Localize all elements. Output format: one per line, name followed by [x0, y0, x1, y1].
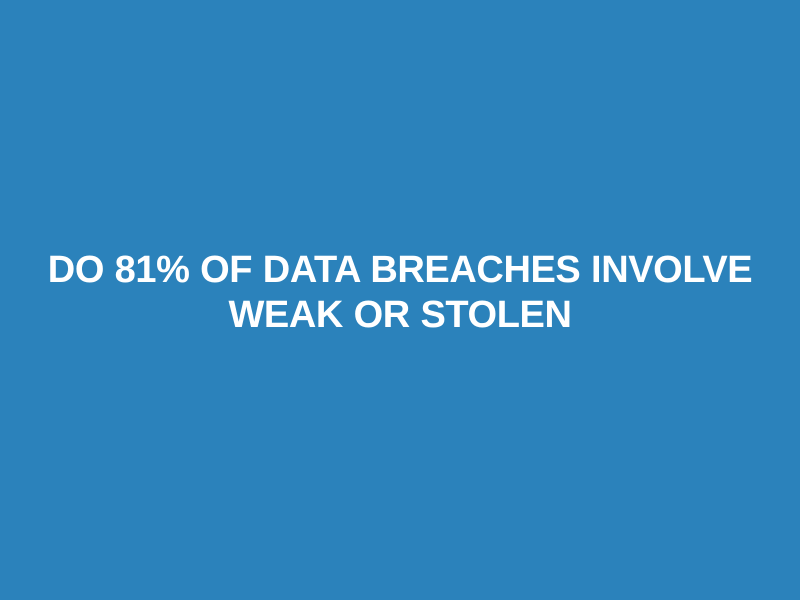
title-block: DO 81% OF DATA BREACHES INVOLVE WEAK OR … — [0, 248, 800, 338]
hero-title-card: DO 81% OF DATA BREACHES INVOLVE WEAK OR … — [0, 0, 800, 600]
page-title: DO 81% OF DATA BREACHES INVOLVE WEAK OR … — [40, 248, 760, 338]
